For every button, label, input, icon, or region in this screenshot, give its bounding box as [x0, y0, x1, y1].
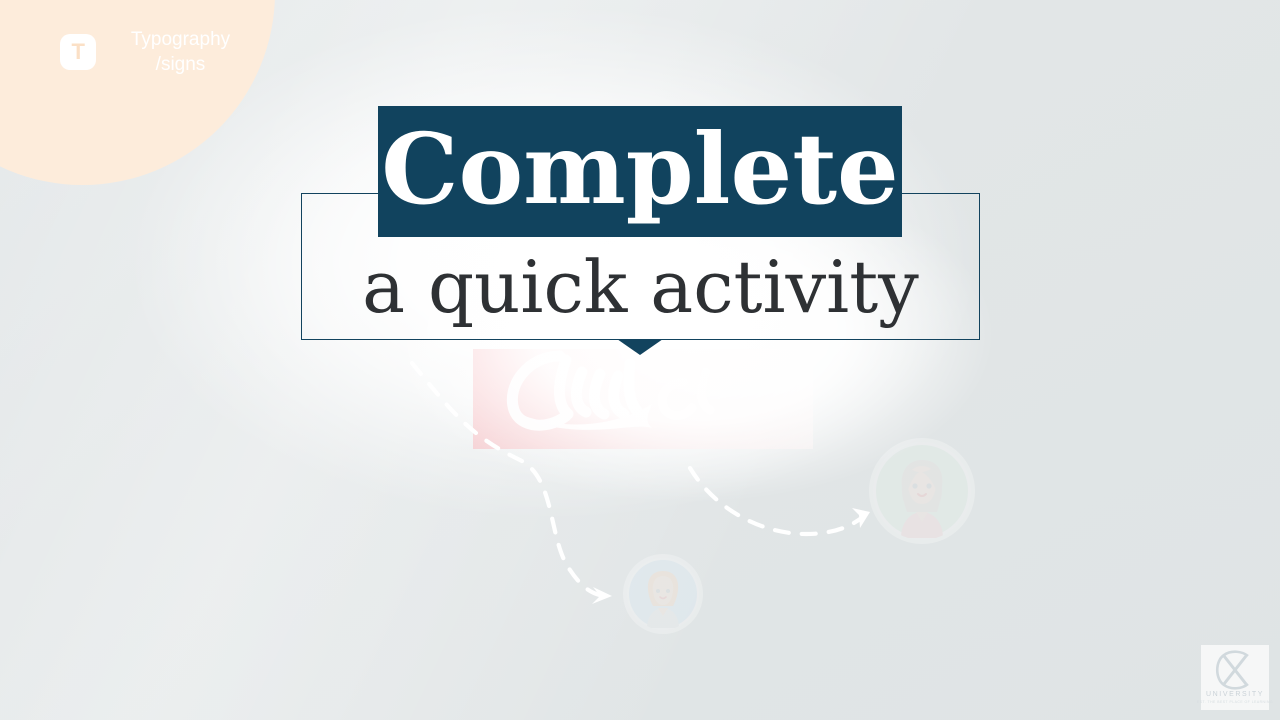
subtitle-text: a quick activity [362, 251, 919, 323]
university-tagline: EST. THE BEST PLACE OF LEARNING [1197, 700, 1273, 705]
typography-app-icon-glyph: T [72, 41, 85, 63]
university-logo: UNIVERSITY EST. THE BEST PLACE OF LEARNI… [1201, 645, 1269, 710]
slide-canvas: a quick activity Complete T Typography /… [0, 0, 1280, 720]
title-band: Complete [378, 106, 902, 237]
badge-label-line1: Typography [106, 27, 255, 52]
avatar-child [627, 558, 699, 630]
typography-app-icon: T [60, 34, 96, 70]
avatar-female [873, 442, 971, 540]
frame-down-pointer [617, 339, 663, 355]
page-title: Complete [381, 121, 898, 218]
badge-label-line2: /signs [106, 52, 255, 77]
dashed-arrow-left-head [592, 587, 612, 604]
badge-label: Typography /signs [106, 27, 255, 77]
university-name: UNIVERSITY [1206, 691, 1264, 699]
university-crest-icon [1212, 650, 1258, 690]
subtitle-wrapper: a quick activity [301, 237, 980, 337]
dashed-arrow-right-head [852, 508, 870, 528]
badge: T Typography /signs [60, 22, 255, 82]
dashed-arrow-to-right-avatar [690, 468, 864, 534]
